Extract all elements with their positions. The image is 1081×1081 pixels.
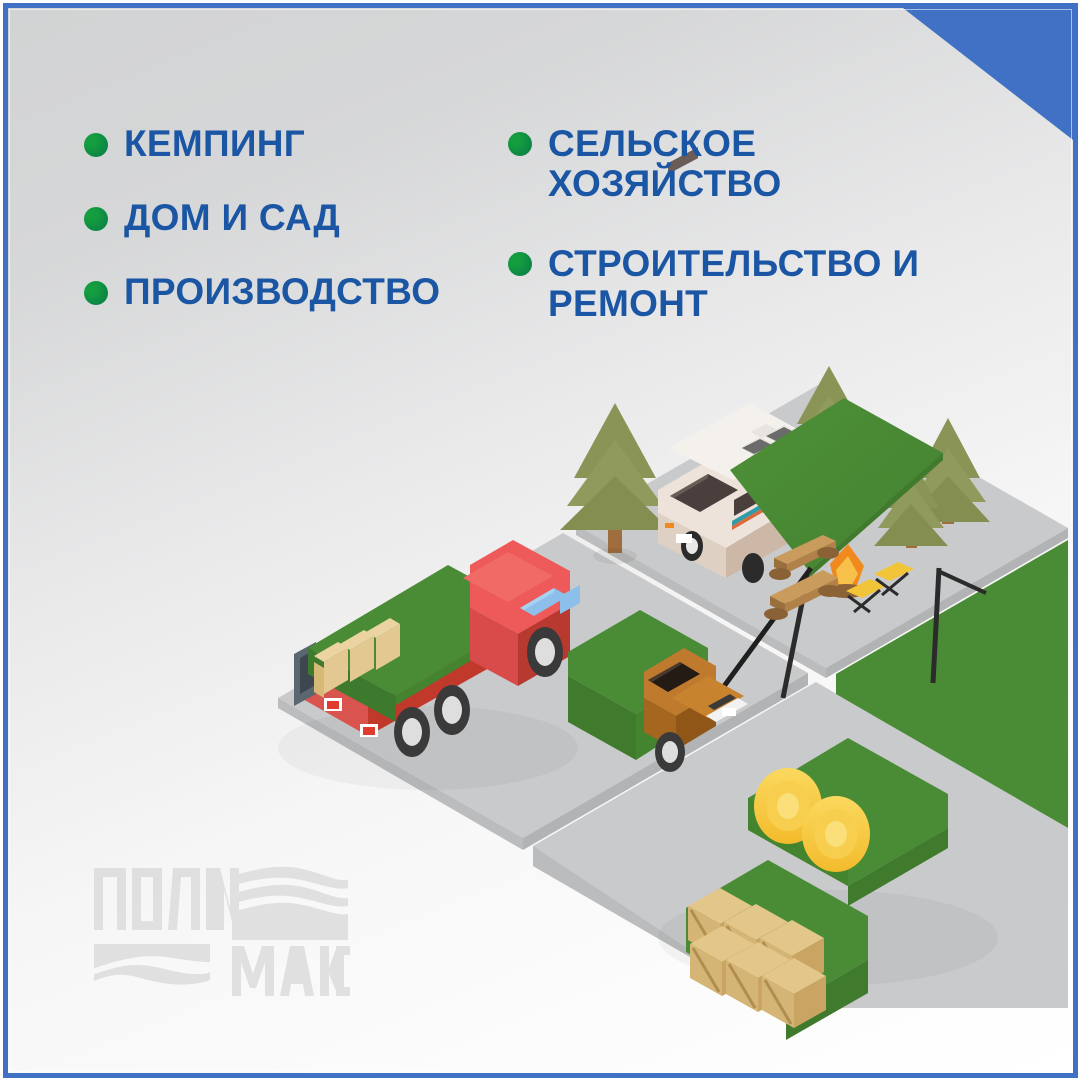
category-column-right: СЕЛЬСКОЕ ХОЗЯЙСТВО СТРОИТЕЛЬСТВО И РЕМОН… <box>508 124 978 364</box>
category-item-agriculture[interactable]: СЕЛЬСКОЕ ХОЗЯЙСТВО <box>508 124 978 204</box>
poster-canvas: КЕМПИНГ ДОМ И САД ПРОИЗВОДСТВО СЕЛЬСКОЕ … <box>0 0 1081 1081</box>
category-label: ДОМ И САД <box>124 198 340 238</box>
brand-watermark-logo <box>92 862 350 1002</box>
bullet-dot-icon <box>84 207 108 231</box>
bullet-dot-icon <box>84 281 108 305</box>
bullet-dot-icon <box>508 252 532 276</box>
category-item-camping[interactable]: КЕМПИНГ <box>84 124 484 164</box>
category-label: ПРОИЗВОДСТВО <box>124 272 440 312</box>
category-label: КЕМПИНГ <box>124 124 305 164</box>
logo-wave-upper <box>232 867 348 940</box>
bullet-dot-icon <box>84 133 108 157</box>
category-label: СЕЛЬСКОЕ ХОЗЯЙСТВО <box>548 124 782 204</box>
category-item-home-and-garden[interactable]: ДОМ И САД <box>84 198 484 238</box>
category-item-construction-and-repair[interactable]: СТРОИТЕЛЬСТВО И РЕМОНТ <box>508 244 978 324</box>
category-column-left: КЕМПИНГ ДОМ И САД ПРОИЗВОДСТВО <box>84 124 484 346</box>
logo-text-line1 <box>94 868 239 930</box>
logo-wave-lower <box>94 944 210 985</box>
category-label: СТРОИТЕЛЬСТВО И РЕМОНТ <box>548 244 919 324</box>
logo-text-line2 <box>232 946 350 996</box>
bullet-dot-icon <box>508 132 532 156</box>
category-item-production[interactable]: ПРОИЗВОДСТВО <box>84 272 484 312</box>
hay-bale <box>802 796 870 872</box>
